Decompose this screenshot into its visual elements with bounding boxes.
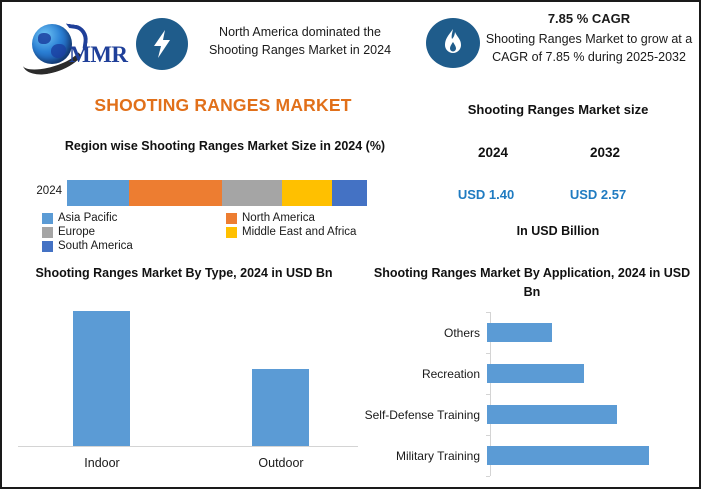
type-tick-label-outdoor: Outdoor xyxy=(221,456,341,470)
application-chart-title: Shooting Ranges Market By Application, 2… xyxy=(370,264,694,303)
application-chart-plot: Others Recreation Self-Defense Training … xyxy=(362,310,701,483)
flame-icon xyxy=(426,18,480,68)
brand-name: MMR xyxy=(69,42,128,68)
page-title: SHOOTING RANGES MARKET xyxy=(40,95,406,116)
application-label-military-training: Military Training xyxy=(362,449,486,463)
type-chart-panel: Shooting Ranges Market By Type, 2024 in … xyxy=(4,260,362,489)
header-cagr-block: 7.85 % CAGR Shooting Ranges Market to gr… xyxy=(484,10,694,66)
legend-label-middle-east-and-africa: Middle East and Africa xyxy=(242,226,356,238)
application-label-others: Others xyxy=(362,326,486,340)
region-bar-track xyxy=(67,180,367,206)
market-size-forecast-year: 2032 xyxy=(562,145,648,160)
market-size-base-year: 2024 xyxy=(450,145,536,160)
region-segment-europe xyxy=(222,180,282,206)
application-label-recreation: Recreation xyxy=(362,367,486,381)
region-segment-middle-east-and-africa xyxy=(282,180,332,206)
region-segment-south-america xyxy=(332,180,367,206)
legend-label-asia-pacific: Asia Pacific xyxy=(58,212,117,224)
application-bar-recreation xyxy=(487,364,584,383)
application-bar-military-training xyxy=(487,446,649,465)
legend-label-north-america: North America xyxy=(242,212,315,224)
region-chart-legend: Asia Pacific North America Europe Middle… xyxy=(42,212,414,252)
market-size-base-value: USD 1.40 xyxy=(443,187,529,202)
legend-item-south-america: South America xyxy=(42,240,226,252)
legend-label-south-america: South America xyxy=(58,240,133,252)
application-bar-others xyxy=(487,323,552,342)
type-tick-label-indoor: Indoor xyxy=(42,456,162,470)
application-row-recreation: Recreation xyxy=(362,353,701,394)
legend-swatch-south-america xyxy=(42,241,53,252)
cagr-headline: 7.85 % CAGR xyxy=(484,10,694,29)
type-chart-plot xyxy=(4,306,362,447)
lightning-bolt-icon xyxy=(136,18,188,70)
legend-swatch-middle-east-and-africa xyxy=(226,227,237,238)
legend-item-asia-pacific: Asia Pacific xyxy=(42,212,226,224)
application-label-self-defense-training: Self-Defense Training xyxy=(362,408,486,422)
type-chart-title: Shooting Ranges Market By Type, 2024 in … xyxy=(34,264,334,283)
application-tick-4 xyxy=(486,476,490,477)
cagr-description: Shooting Ranges Market to grow at a CAGR… xyxy=(486,32,692,64)
legend-item-middle-east-and-africa: Middle East and Africa xyxy=(226,226,414,238)
legend-label-europe: Europe xyxy=(58,226,95,238)
application-row-military-training: Military Training xyxy=(362,435,701,476)
legend-swatch-asia-pacific xyxy=(42,213,53,224)
market-size-title: Shooting Ranges Market size xyxy=(434,102,682,117)
market-size-unit-note: In USD Billion xyxy=(434,224,682,238)
region-chart-title: Region wise Shooting Ranges Market Size … xyxy=(40,137,410,156)
market-size-forecast-value: USD 2.57 xyxy=(555,187,641,202)
legend-item-north-america: North America xyxy=(226,212,414,224)
header-note-north-america: North America dominated the Shooting Ran… xyxy=(194,23,406,59)
type-chart-axis xyxy=(18,446,358,447)
region-segment-asia-pacific xyxy=(67,180,129,206)
application-row-others: Others xyxy=(362,312,701,353)
application-bar-self-defense-training xyxy=(487,405,617,424)
application-chart-panel: Shooting Ranges Market By Application, 2… xyxy=(362,260,701,489)
mmr-logo: MMR xyxy=(16,16,132,78)
application-row-self-defense-training: Self-Defense Training xyxy=(362,394,701,435)
region-category-label: 2024 xyxy=(16,185,62,197)
legend-swatch-europe xyxy=(42,227,53,238)
type-bar-indoor xyxy=(73,311,130,446)
type-bar-outdoor xyxy=(252,369,309,446)
region-stacked-bar-chart: 2024 xyxy=(2,180,422,208)
legend-item-europe: Europe xyxy=(42,226,226,238)
infographic-canvas: MMR North America dominated the Shooting… xyxy=(0,0,701,489)
region-segment-north-america xyxy=(129,180,222,206)
legend-swatch-north-america xyxy=(226,213,237,224)
